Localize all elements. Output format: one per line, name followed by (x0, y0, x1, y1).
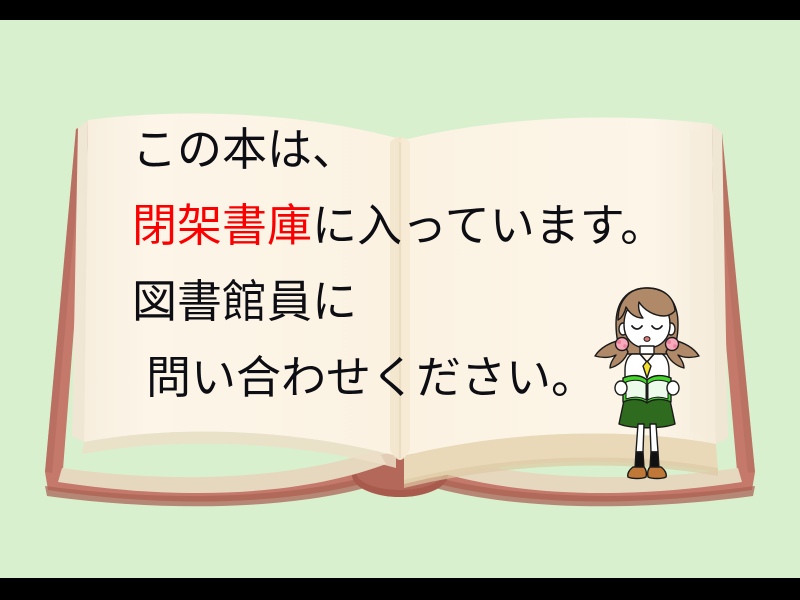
leg-right (650, 424, 658, 452)
hair-tie-right (666, 338, 679, 351)
girl-reading-book-illustration (592, 282, 702, 482)
shoe-right (648, 467, 667, 479)
slide-canvas: この本は、 閉架書庫に入っています。 図書館員に 問い合わせください。 (0, 0, 800, 600)
held-book (623, 376, 671, 403)
letterbox-top (0, 0, 800, 20)
slide-background: この本は、 閉架書庫に入っています。 図書館員に 問い合わせください。 (0, 20, 800, 578)
leg-left (636, 424, 644, 452)
hand-right (667, 381, 679, 395)
hair-tie-left (616, 338, 629, 351)
sock-left (635, 452, 644, 468)
message-line-2-highlight: 閉架書庫 (132, 199, 312, 252)
message-line-1: この本は、 (132, 112, 692, 188)
shoe-left (628, 467, 647, 479)
message-line-2: 閉架書庫に入っています。 (132, 188, 692, 264)
neck (640, 346, 654, 354)
sock-right (650, 452, 659, 468)
mouth (644, 337, 650, 342)
hand-left (615, 381, 627, 395)
letterbox-bottom (0, 578, 800, 600)
message-line-2-rest: に入っています。 (312, 199, 665, 252)
